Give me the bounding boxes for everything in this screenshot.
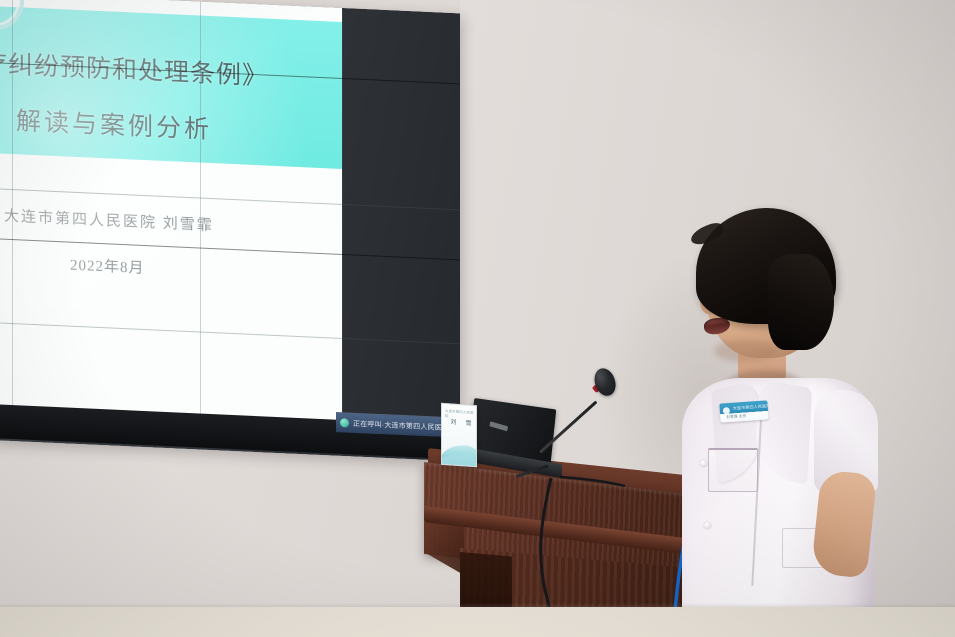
slide-date-line: 2022年8月 [70,254,310,286]
coat-button [700,460,707,467]
green-status-dot-icon [340,418,349,427]
coat-chest-pocket [708,448,758,492]
desk-name-card: 大连市第四人民医院 刘 雪 霏 [441,403,477,468]
floor-strip [0,607,955,637]
laptop-brand-logo-icon [489,421,508,431]
badge-emblem-icon [723,407,730,414]
badge-line-1: 大连市第四人民医院 [733,403,769,412]
forearm [811,469,878,578]
led-display-wall: 医疗纠纷预防和处理条例》 解读与案例分析 大连市第四人民医院 刘雪霏 2022年… [0,0,460,461]
hospital-id-badge: 大连市第四人民医院 刘雪霏 主任 [719,400,768,422]
panel-seam-vertical [200,2,201,450]
name-card-char-1: 刘 [448,418,457,426]
panel-seam-vertical [12,0,13,441]
badge-line-2: 刘雪霏 主任 [726,414,746,420]
presentation-photo-scene: 医疗纠纷预防和处理条例》 解读与案例分析 大连市第四人民医院 刘雪霏 2022年… [0,0,955,637]
panel-seam-vertical [342,8,343,456]
hair-back [768,254,834,350]
mic-capsule-head-icon [591,366,619,399]
gooseneck-microphone[interactable] [540,365,630,495]
name-card-columns: 刘 雪 霏 [448,418,477,428]
taskbar-label: 正在呼叫·大连市第四人民医院 [353,418,449,432]
chin-shadow [714,340,776,362]
slide-author-line: 大连市第四人民医院 刘雪霏 [4,205,342,241]
mic-stem-upper [539,401,597,454]
name-card-char-2: 雪 [463,419,472,427]
presenter-person: 大连市第四人民医院 刘雪霏 主任 [660,210,920,637]
coat-button [704,522,711,529]
